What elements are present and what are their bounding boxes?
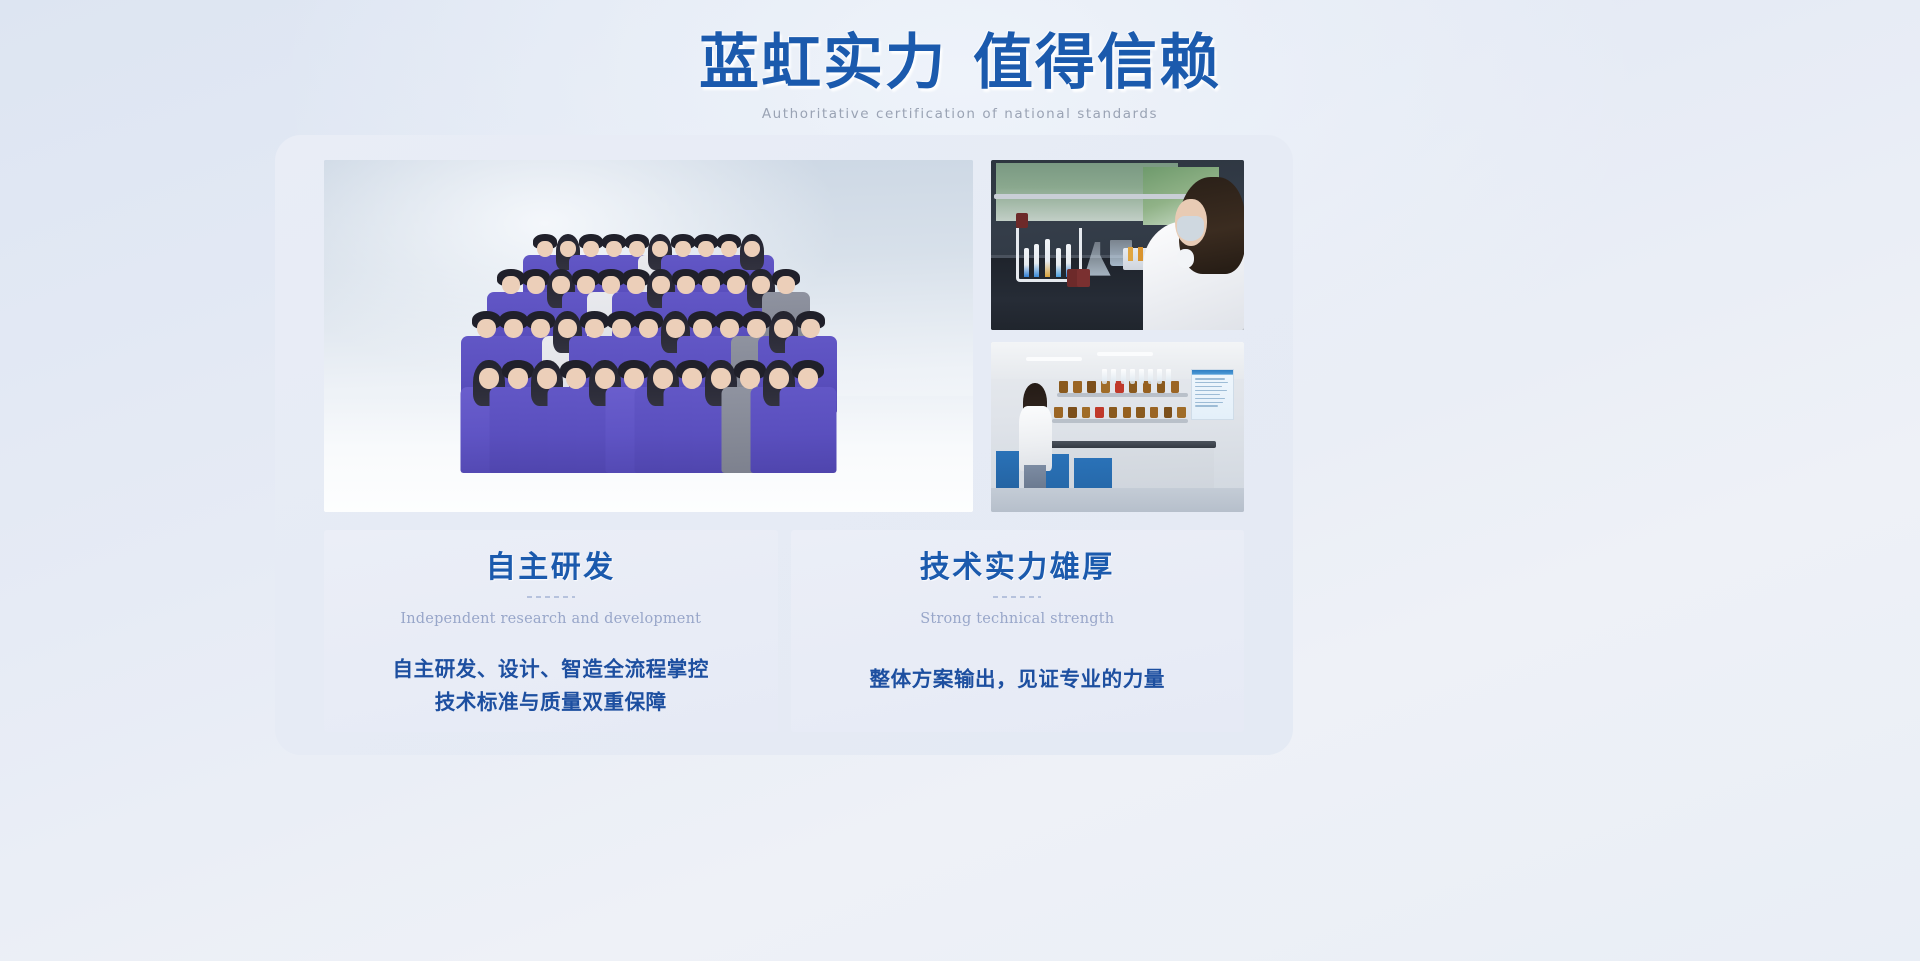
team-photo-face bbox=[629, 241, 645, 257]
lab2-reagent-bottle bbox=[1087, 381, 1096, 393]
team-photo-face bbox=[537, 368, 557, 389]
team-photo-face bbox=[531, 319, 550, 338]
lab2-island-benchtop bbox=[1024, 441, 1216, 449]
feature-card-tech: 技术实力雄厚 Strong technical strength 整体方案输出，… bbox=[791, 530, 1245, 732]
page-title-part1: 蓝虹实力 bbox=[699, 28, 947, 98]
team-photo-row bbox=[324, 364, 973, 391]
team-photo-face bbox=[677, 276, 694, 293]
lab2-reagent-bottle bbox=[1068, 407, 1077, 419]
lab1-pipette bbox=[1045, 239, 1050, 277]
lab-photo-technician bbox=[991, 160, 1244, 330]
team-photo bbox=[324, 160, 973, 512]
team-photo-face bbox=[612, 319, 631, 338]
lab2-poster-text-line bbox=[1195, 394, 1220, 396]
team-photo-people bbox=[324, 160, 973, 512]
team-photo-head bbox=[798, 315, 823, 340]
team-photo-face bbox=[774, 319, 793, 338]
content-panel: 自主研发 Independent research and developmen… bbox=[275, 135, 1293, 755]
team-photo-face bbox=[652, 276, 669, 293]
feature-card-title: 自主研发 bbox=[324, 550, 778, 586]
team-photo-face bbox=[504, 319, 523, 338]
lab2-ceiling-light-2 bbox=[1097, 352, 1153, 356]
lab1-pipette bbox=[1024, 248, 1029, 278]
team-photo-head bbox=[742, 237, 763, 258]
team-photo-face bbox=[508, 368, 528, 389]
lab2-reagent-bottle bbox=[1164, 407, 1173, 419]
lab1-pipette bbox=[1056, 248, 1061, 278]
lab2-glass-cylinder bbox=[1111, 369, 1116, 384]
feature-card-body-line: 技术标准与质量双重保障 bbox=[324, 686, 778, 719]
lab2-cabinet-blue-side bbox=[996, 451, 1019, 488]
lab1-pipette bbox=[1034, 244, 1039, 278]
team-photo-face bbox=[721, 241, 737, 257]
page-header: 蓝虹实力值得信赖 Authoritative certification of … bbox=[0, 0, 1920, 122]
lab2-reagent-bottle bbox=[1095, 407, 1104, 419]
team-photo-uniform bbox=[780, 387, 837, 473]
lab-photo-column bbox=[991, 160, 1244, 512]
lab2-glass-cylinder bbox=[1166, 369, 1171, 384]
team-photo-face bbox=[769, 368, 789, 389]
team-photo-row bbox=[324, 273, 973, 296]
lab2-glass-cylinder bbox=[1157, 369, 1162, 384]
team-photo-face bbox=[583, 241, 599, 257]
team-photo-person bbox=[775, 273, 798, 296]
team-photo-face bbox=[702, 276, 719, 293]
lab2-shelf-lower bbox=[1052, 419, 1189, 423]
team-photo-face bbox=[798, 368, 818, 389]
lab2-glass-cylinder bbox=[1102, 369, 1107, 384]
team-photo-person bbox=[798, 315, 823, 340]
lab2-glass-cylinder bbox=[1148, 369, 1153, 384]
team-photo-face bbox=[595, 368, 615, 389]
feature-card-body-line: 整体方案输出，见证专业的力量 bbox=[791, 663, 1245, 696]
team-photo-person bbox=[742, 237, 763, 258]
lab1-technician bbox=[1143, 177, 1244, 330]
team-photo-face bbox=[537, 241, 553, 257]
team-photo-face bbox=[606, 241, 622, 257]
team-photo-person bbox=[795, 364, 822, 391]
lab2-trousers bbox=[1024, 465, 1046, 488]
team-photo-face bbox=[477, 319, 496, 338]
team-photo-face bbox=[744, 241, 760, 257]
team-photo-face bbox=[698, 241, 714, 257]
lab2-ceiling-light-1 bbox=[1026, 357, 1082, 361]
team-photo-face bbox=[675, 241, 691, 257]
team-photo-head bbox=[795, 364, 822, 391]
team-photo-face bbox=[693, 319, 712, 338]
team-photo-face bbox=[711, 368, 731, 389]
page-title-part2: 值得信赖 bbox=[973, 28, 1221, 98]
lab2-poster-text-line bbox=[1195, 398, 1225, 400]
lab2-reagent-bottle bbox=[1059, 381, 1068, 393]
team-photo-head bbox=[775, 273, 798, 296]
team-photo-face bbox=[577, 276, 594, 293]
team-photo-face bbox=[527, 276, 544, 293]
team-photo-face bbox=[777, 276, 794, 293]
lab2-reagent-bottle bbox=[1150, 407, 1159, 419]
team-photo-face bbox=[682, 368, 702, 389]
lab2-glass-cylinder bbox=[1139, 369, 1144, 384]
team-photo-face bbox=[720, 319, 739, 338]
lab2-reagent-bottle bbox=[1177, 407, 1186, 419]
feature-card-subtitle: Independent research and development bbox=[324, 611, 778, 627]
team-photo-face bbox=[801, 319, 820, 338]
lab2-reagent-bottle bbox=[1082, 407, 1091, 419]
team-photo-face bbox=[639, 319, 658, 338]
feature-card-body: 整体方案输出，见证专业的力量 bbox=[791, 663, 1245, 696]
team-photo-face bbox=[752, 276, 769, 293]
lab2-floor bbox=[991, 488, 1244, 512]
lab1-reagent-bottle-2 bbox=[1077, 269, 1090, 287]
lab2-lab-coat bbox=[1019, 406, 1052, 471]
dashed-divider bbox=[993, 596, 1041, 598]
team-photo-row bbox=[324, 237, 973, 258]
lab2-poster-text-line bbox=[1195, 402, 1223, 404]
team-photo-face bbox=[666, 319, 685, 338]
lab2-reagent-bottle bbox=[1054, 407, 1063, 419]
lab2-poster-text-line bbox=[1195, 382, 1228, 384]
lab1-vial-a bbox=[1128, 247, 1133, 261]
feature-card-title: 技术实力雄厚 bbox=[791, 550, 1245, 586]
page-subtitle: Authoritative certification of national … bbox=[0, 106, 1920, 122]
lab2-shelf-upper bbox=[1057, 393, 1189, 397]
lab2-reagent-bottle bbox=[1109, 407, 1118, 419]
dashed-divider bbox=[527, 596, 575, 598]
team-photo-face bbox=[560, 241, 576, 257]
lab2-reagent-bottle bbox=[1136, 407, 1145, 419]
lab2-reagent-bottle bbox=[1123, 407, 1132, 419]
page-title: 蓝虹实力值得信赖 bbox=[0, 30, 1920, 97]
team-photo-face bbox=[624, 368, 644, 389]
team-photo-face bbox=[602, 276, 619, 293]
lab2-poster-text-line bbox=[1195, 378, 1225, 380]
team-photo-face bbox=[653, 368, 673, 389]
lab1-amber-bottle-shelf bbox=[1016, 213, 1028, 228]
team-photo-face bbox=[627, 276, 644, 293]
team-photo-face bbox=[558, 319, 577, 338]
lab2-poster-text-line bbox=[1195, 390, 1227, 392]
lab2-glass-cylinder bbox=[1121, 369, 1126, 384]
lab2-glass-cylinder bbox=[1130, 369, 1135, 384]
team-photo-face bbox=[740, 368, 760, 389]
lab2-reagent-bottle bbox=[1171, 381, 1180, 393]
feature-card-subtitle: Strong technical strength bbox=[791, 611, 1245, 627]
feature-card-rnd: 自主研发 Independent research and developmen… bbox=[324, 530, 778, 732]
team-photo-face bbox=[747, 319, 766, 338]
feature-card-body: 自主研发、设计、智造全流程掌控 技术标准与质量双重保障 bbox=[324, 653, 778, 719]
team-photo-face bbox=[566, 368, 586, 389]
lab2-safety-poster bbox=[1191, 369, 1234, 420]
lab2-reagent-bottle bbox=[1073, 381, 1082, 393]
team-photo-face bbox=[552, 276, 569, 293]
team-photo-row bbox=[324, 315, 973, 340]
team-photo-face bbox=[479, 368, 499, 389]
lab2-researcher bbox=[1019, 383, 1052, 488]
team-photo-face bbox=[652, 241, 668, 257]
feature-cards: 自主研发 Independent research and developmen… bbox=[324, 530, 1244, 732]
feature-card-body-line: 自主研发、设计、智造全流程掌控 bbox=[324, 653, 778, 686]
media-gallery bbox=[324, 160, 1244, 512]
team-photo-face bbox=[502, 276, 519, 293]
lab-photo-room bbox=[991, 342, 1244, 512]
lab2-poster-text-line bbox=[1195, 405, 1218, 407]
team-photo-face bbox=[727, 276, 744, 293]
team-photo-face bbox=[585, 319, 604, 338]
lab2-poster-text-line bbox=[1195, 386, 1222, 388]
lab1-gloved-hand bbox=[1177, 249, 1194, 268]
